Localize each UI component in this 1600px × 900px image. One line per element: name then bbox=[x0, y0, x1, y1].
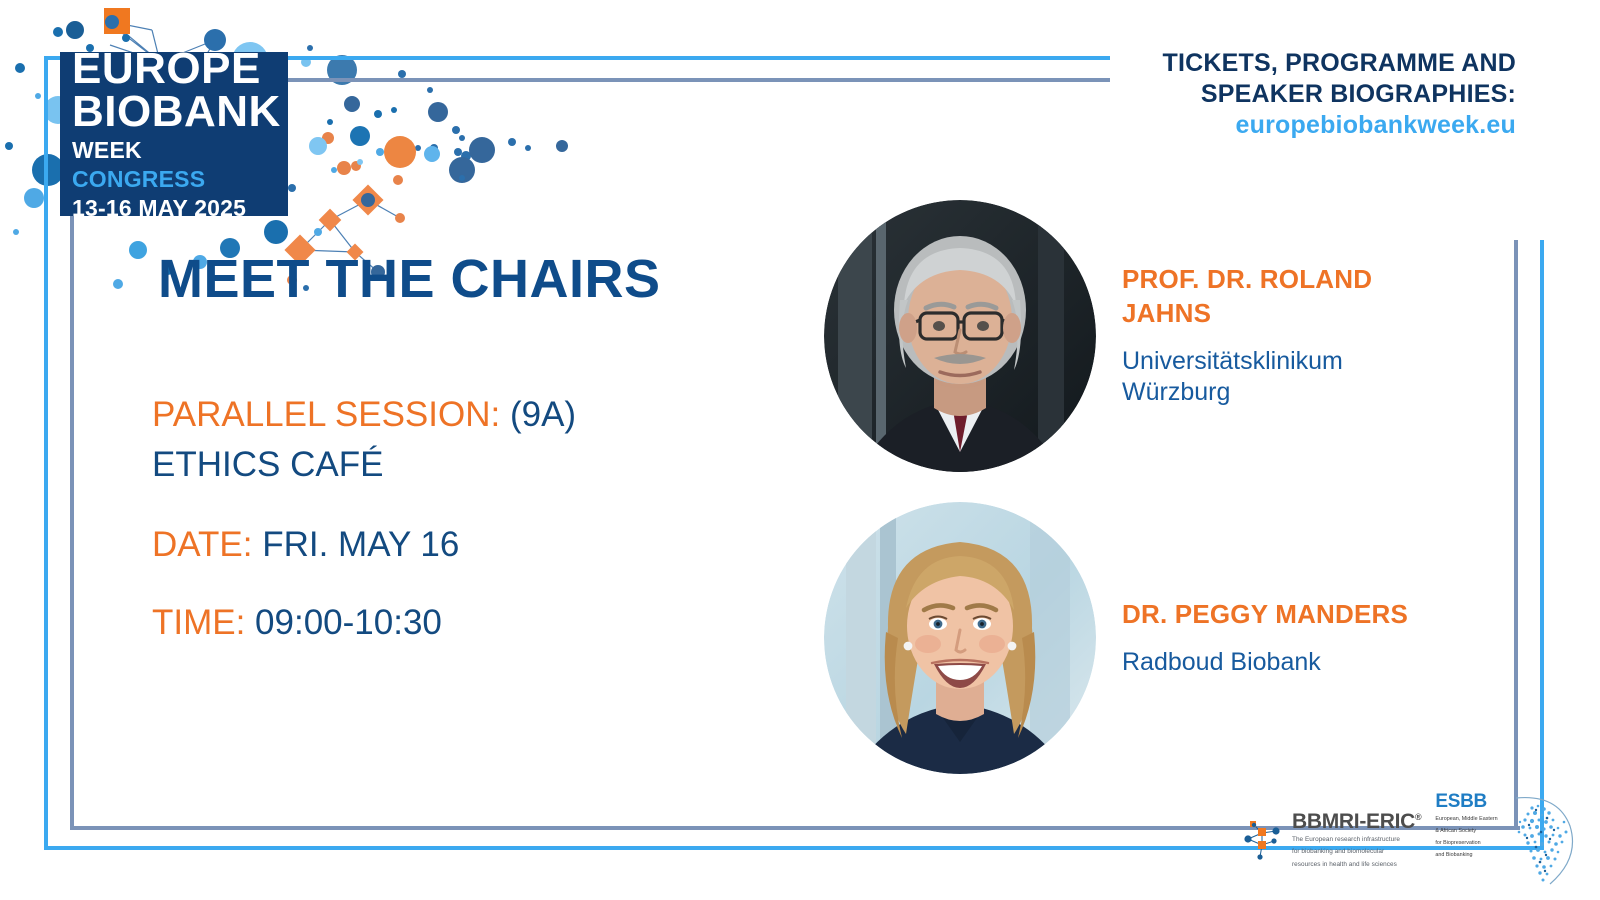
spacer bbox=[152, 570, 772, 598]
bbmri-wordmark: BBMRI-ERIC bbox=[1292, 810, 1415, 833]
bbmri-name: BBMRI-ERIC® bbox=[1292, 811, 1421, 832]
speaker-card-roland-jahns: PROF. DR. ROLAND JAHNS Universitätsklini… bbox=[824, 200, 1442, 472]
event-logo: EUROPE BIOBANK WEEK CONGRESS 13-16 MAY 2… bbox=[60, 52, 288, 216]
speaker-2-affiliation: Radboud Biobank bbox=[1122, 647, 1442, 678]
speaker-2-name: DR. PEGGY MANDERS bbox=[1122, 598, 1442, 631]
esbb-text-block: ESBB European, Middle Eastern & African … bbox=[1435, 792, 1497, 859]
session-row-title: ETHICS CAFÉ bbox=[152, 440, 772, 490]
esbb-africa-dotted-icon bbox=[1502, 792, 1578, 888]
speaker-1-text: PROF. DR. ROLAND JAHNS Universitätsklini… bbox=[1122, 263, 1442, 408]
bbmri-trademark: ® bbox=[1415, 812, 1421, 822]
esbb-tagline-line2: & African Society bbox=[1435, 827, 1497, 835]
speaker-1-name: PROF. DR. ROLAND JAHNS bbox=[1122, 263, 1442, 330]
logo-line-week-congress: WEEK CONGRESS bbox=[72, 136, 276, 195]
session-value-title: ETHICS CAFÉ bbox=[152, 445, 383, 484]
spacer bbox=[152, 490, 772, 520]
session-value-time: 09:00-10:30 bbox=[245, 603, 442, 642]
esbb-wordmark: ESBB bbox=[1435, 792, 1497, 811]
session-label-date: DATE: bbox=[152, 525, 252, 564]
session-row-time: TIME: 09:00-10:30 bbox=[152, 598, 772, 648]
partner-logos: BBMRI-ERIC® The European research infras… bbox=[1240, 792, 1578, 888]
bbmri-tagline-line3: resources in health and life sciences bbox=[1292, 860, 1421, 869]
bbmri-tagline-line1: The European research infrastructure bbox=[1292, 835, 1421, 844]
session-row-parallel: PARALLEL SESSION: (9A) bbox=[152, 390, 772, 440]
roland-jahns-portrait bbox=[824, 200, 1096, 472]
frame-inner-right-border bbox=[1514, 240, 1518, 830]
logo-week-text: WEEK bbox=[72, 137, 142, 163]
frame-outer-right-border bbox=[1540, 240, 1544, 850]
esbb-tagline-line4: and Biobanking bbox=[1435, 851, 1497, 859]
session-details: PARALLEL SESSION: (9A) ETHICS CAFÉ DATE:… bbox=[152, 390, 772, 648]
tickets-info-line1: TICKETS, PROGRAMME AND bbox=[1086, 48, 1516, 79]
speaker-card-peggy-manders: DR. PEGGY MANDERS Radboud Biobank bbox=[824, 502, 1442, 774]
speaker-1-affiliation: Universitätsklinikum Würzburg bbox=[1122, 346, 1442, 409]
session-label-parallel: PARALLEL SESSION: bbox=[152, 395, 500, 434]
tickets-info-block: TICKETS, PROGRAMME AND SPEAKER BIOGRAPHI… bbox=[1086, 48, 1516, 143]
esbb-logo: ESBB European, Middle Eastern & African … bbox=[1435, 792, 1577, 888]
page-title: MEET THE CHAIRS bbox=[158, 248, 661, 310]
tickets-info-line2: SPEAKER BIOGRAPHIES: bbox=[1086, 79, 1516, 110]
session-label-time: TIME: bbox=[152, 603, 245, 642]
bbmri-text-block: BBMRI-ERIC® The European research infras… bbox=[1292, 811, 1421, 868]
logo-line-biobank: BIOBANK bbox=[72, 90, 276, 133]
bbmri-tagline-line2: for biobanking and biomolecular bbox=[1292, 847, 1421, 856]
logo-line-europe: EUROPE bbox=[72, 48, 276, 90]
logo-congress-text: CONGRESS bbox=[72, 166, 205, 192]
speaker-2-text: DR. PEGGY MANDERS Radboud Biobank bbox=[1122, 598, 1442, 679]
bbmri-network-icon bbox=[1240, 817, 1286, 863]
logo-dates: 13-16 MAY 2025 bbox=[72, 195, 276, 223]
session-value-date: FRI. MAY 16 bbox=[252, 525, 459, 564]
esbb-tagline-line1: European, Middle Eastern bbox=[1435, 815, 1497, 823]
peggy-manders-portrait bbox=[824, 502, 1096, 774]
session-value-parallel: (9A) bbox=[500, 395, 576, 434]
event-website-link[interactable]: europebiobankweek.eu bbox=[1086, 109, 1516, 143]
session-row-date: DATE: FRI. MAY 16 bbox=[152, 520, 772, 570]
slide-canvas: EUROPE BIOBANK WEEK CONGRESS 13-16 MAY 2… bbox=[0, 0, 1600, 900]
esbb-tagline-line3: for Biopreservation bbox=[1435, 839, 1497, 847]
bbmri-eric-logo: BBMRI-ERIC® The European research infras… bbox=[1240, 811, 1421, 868]
